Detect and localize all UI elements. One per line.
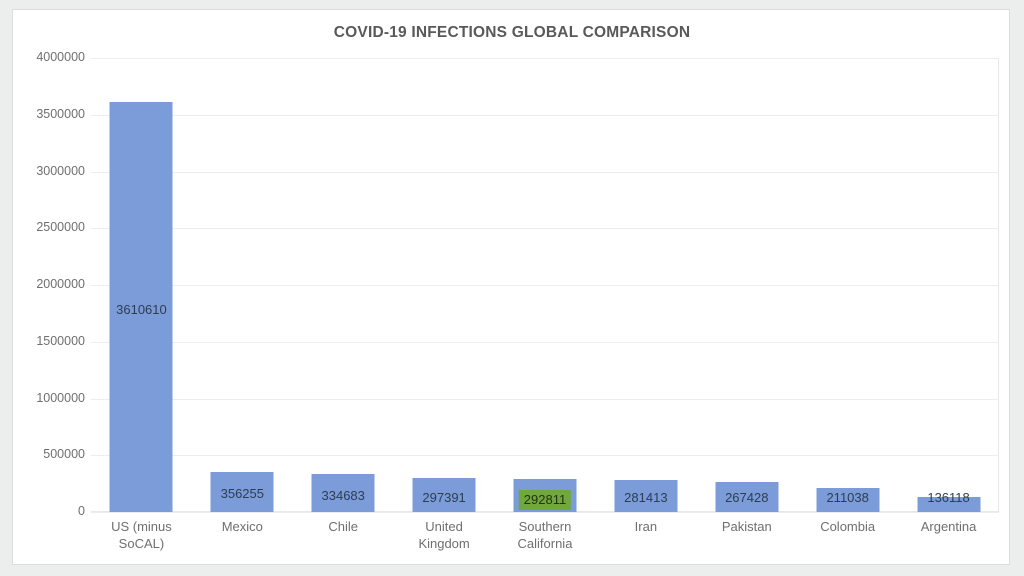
chart-card: COVID-19 INFECTIONS GLOBAL COMPARISON 40… [12, 9, 1010, 565]
plot-area-wrapper: 3610610356255334683297391292811281413267… [91, 58, 999, 512]
bar-value-label: 267428 [725, 490, 768, 505]
x-axis-category-label-line: Colombia [797, 518, 898, 535]
x-axis-category-label: Colombia [797, 518, 898, 535]
x-axis-category-label-line: Argentina [898, 518, 999, 535]
x-axis-category-label-line: Iran [595, 518, 696, 535]
x-axis-category-label-line: United [394, 518, 495, 535]
x-axis-category-label: SouthernCalifornia [495, 518, 596, 552]
x-axis-category-label: Argentina [898, 518, 999, 535]
y-axis-tick-label: 500000 [15, 447, 85, 461]
bar-value-label-highlighted: 292811 [519, 490, 571, 510]
x-axis-category-label: US (minusSoCAL) [91, 518, 192, 552]
x-axis-category-labels: US (minusSoCAL)MexicoChileUnitedKingdomS… [91, 518, 999, 564]
x-axis-category-label-line: Mexico [192, 518, 293, 535]
x-axis-category-label: UnitedKingdom [394, 518, 495, 552]
x-axis-category-label-line: US (minus [91, 518, 192, 535]
y-axis-tick-label: 3500000 [15, 107, 85, 121]
bar-slot: 211038 [797, 58, 898, 512]
bar-slot: 136118 [898, 58, 999, 512]
bar-slot: 267428 [696, 58, 797, 512]
y-axis-tick-label: 2500000 [15, 220, 85, 234]
bar-slot: 281413 [595, 58, 696, 512]
y-axis-tick-label: 3000000 [15, 164, 85, 178]
x-axis-category-label: Pakistan [696, 518, 797, 535]
y-axis-tick-labels: 4000000350000030000002500000200000015000… [13, 10, 85, 566]
x-axis-category-label: Iran [595, 518, 696, 535]
y-axis-tick-label: 1000000 [15, 391, 85, 405]
x-axis-category-label-line: Pakistan [696, 518, 797, 535]
x-axis-category-label-line: SoCAL) [91, 535, 192, 552]
bar-series: 3610610356255334683297391292811281413267… [91, 58, 999, 512]
bar-slot: 334683 [293, 58, 394, 512]
x-axis-category-label-line: Chile [293, 518, 394, 535]
bar-value-label: 356255 [221, 486, 264, 501]
bar-value-label: 334683 [322, 488, 365, 503]
bar-value-label: 3610610 [116, 302, 167, 317]
y-axis-tick-label: 4000000 [15, 50, 85, 64]
y-axis-tick-label: 2000000 [15, 277, 85, 291]
bar-slot: 356255 [192, 58, 293, 512]
y-axis-tick-label: 0 [15, 504, 85, 518]
gridline [91, 512, 999, 513]
x-axis-category-label: Mexico [192, 518, 293, 535]
bar-value-label: 297391 [422, 490, 465, 505]
x-axis-category-label-line: Southern [495, 518, 596, 535]
x-axis-category-label-line: California [495, 535, 596, 552]
bar-value-label: 136118 [927, 490, 969, 505]
bar-slot: 3610610 [91, 58, 192, 512]
bar-value-label: 281413 [624, 490, 667, 505]
screenshot-root: COVID-19 INFECTIONS GLOBAL COMPARISON 40… [0, 0, 1024, 576]
y-axis-tick-label: 1500000 [15, 334, 85, 348]
x-axis-category-label-line: Kingdom [394, 535, 495, 552]
bar-slot: 292811 [495, 58, 596, 512]
x-axis-category-label: Chile [293, 518, 394, 535]
bar-slot: 297391 [394, 58, 495, 512]
bar-value-label: 211038 [826, 490, 868, 505]
chart-title: COVID-19 INFECTIONS GLOBAL COMPARISON [13, 24, 1011, 42]
